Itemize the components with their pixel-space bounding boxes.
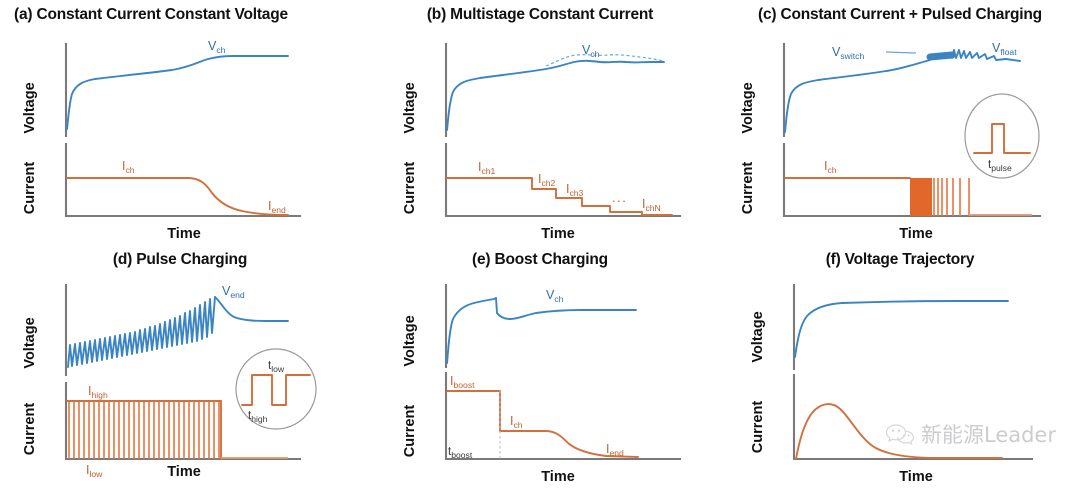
- panel-c-voltage-axis-label: Voltage: [740, 82, 756, 133]
- panel-c-time-axis-label: Time: [899, 226, 933, 242]
- panel-e-label-vch: Vch: [546, 288, 564, 304]
- panel-f-current-curve: [796, 404, 1002, 459]
- panel-e-voltage-axis-label: Voltage: [402, 315, 418, 366]
- panel-c-label-ich: Ich: [824, 159, 837, 175]
- panel-a-title: (a) Constant Current Constant Voltage: [14, 6, 360, 24]
- panel-c-pulse-block: [910, 178, 932, 216]
- panel-b-label-vch: Vch: [582, 43, 600, 59]
- panel-b-label-ichN: IchN: [642, 197, 661, 213]
- panel-a-plot: Voltage Current Vch Ich Iend Time: [0, 26, 360, 241]
- panel-c-label-vfloat: Vfloat: [992, 41, 1017, 57]
- panel-d-voltage-axis-label: Voltage: [22, 317, 38, 368]
- panel-f-current-axis-label: Current: [750, 401, 766, 454]
- panel-f-title: (f) Voltage Trajectory: [720, 251, 1080, 269]
- panel-d-label-ihigh: Ihigh: [88, 384, 108, 400]
- panel-a-label-iend: Iend: [268, 199, 286, 215]
- panel-f-time-axis-label: Time: [899, 469, 933, 485]
- panel-c-vswitch-leader-line: [886, 52, 916, 53]
- panel-b-plot: Voltage Current Vch Ich1 Ich2 Ich3: [360, 26, 720, 241]
- panel-f-voltage-curve: [795, 301, 1008, 357]
- panel-d-voltage-end-plateau: [215, 297, 288, 321]
- panel-b-label-ich1: Ich1: [478, 160, 496, 176]
- panel-b-label-ich2: Ich2: [538, 172, 556, 188]
- panel-c-voltage-dense-oscillation: [930, 55, 952, 57]
- panel-b-label-ellipsis: ...: [612, 190, 627, 205]
- panel-a-current-axes: [66, 144, 300, 216]
- panel-a-current-axis-label: Current: [22, 162, 38, 215]
- figure-grid: (a) Constant Current Constant Voltage Vo…: [0, 0, 1080, 491]
- panel-d-pulse-train: [69, 401, 219, 459]
- panel-c-plot: Voltage Current Vswitch Vfloat: [720, 26, 1080, 241]
- panel-e-current-axis-label: Current: [402, 405, 418, 458]
- panel-e-label-iend: Iend: [606, 442, 624, 458]
- panel-c-inset: tpulse: [965, 94, 1039, 178]
- panel-a-current-curve: [67, 178, 288, 215]
- panel-e-label-tboost: tboost: [448, 446, 473, 460]
- panel-a-label-vch: Vch: [208, 39, 226, 55]
- panel-e-voltage-curve: [447, 298, 636, 363]
- panel-f-current-axes: [794, 375, 1032, 459]
- panel-e-label-iboost: Iboost: [450, 374, 475, 390]
- panel-d-time-axis-label: Time: [167, 464, 201, 480]
- panel-d-title: (d) Pulse Charging: [0, 251, 360, 269]
- panel-e-label-ich: Ich: [510, 414, 523, 430]
- panel-b: (b) Multistage Constant Current Voltage …: [360, 0, 720, 245]
- panel-d-current-axis-label: Current: [22, 403, 38, 456]
- panel-b-label-ich3: Ich3: [566, 182, 584, 198]
- panel-d: (d) Pulse Charging Voltage Current Vend: [0, 245, 360, 491]
- panel-a-label-ich: Ich: [122, 159, 135, 175]
- panel-c-title: (c) Constant Current + Pulsed Charging: [720, 6, 1080, 24]
- panel-d-voltage-oscillation: [68, 297, 215, 367]
- panel-c-current-axis-label: Current: [740, 162, 756, 215]
- panel-e-current-axes: [446, 373, 680, 459]
- panel-c-voltage-curve: [785, 60, 930, 132]
- panel-b-current-axis-label: Current: [402, 162, 418, 215]
- panel-d-label-ilow: Ilow: [86, 463, 103, 479]
- panel-d-inset: tlow thigh: [236, 349, 316, 429]
- panel-a-time-axis-label: Time: [167, 226, 201, 242]
- panel-b-title: (b) Multistage Constant Current: [360, 6, 720, 24]
- panel-e-plot: Voltage Current Vch Iboost Ich Iend: [360, 271, 720, 486]
- panel-b-voltage-axis-label: Voltage: [402, 82, 418, 133]
- panel-f-voltage-axis-label: Voltage: [750, 311, 766, 362]
- panel-a: (a) Constant Current Constant Voltage Vo…: [0, 0, 360, 245]
- panel-b-time-axis-label: Time: [541, 226, 575, 242]
- panel-e-title: (e) Boost Charging: [360, 251, 720, 269]
- panel-f-plot: Voltage Current Time: [720, 271, 1080, 486]
- panel-a-voltage-curve: [67, 56, 288, 129]
- panel-a-voltage-axis-label: Voltage: [22, 82, 38, 133]
- panel-e-time-axis-label: Time: [541, 469, 575, 485]
- panel-b-voltage-curve: [447, 61, 664, 130]
- panel-c: (c) Constant Current + Pulsed Charging V…: [720, 0, 1080, 245]
- panel-e: (e) Boost Charging Voltage Current Vch I…: [360, 245, 720, 491]
- panel-f: (f) Voltage Trajectory Voltage Current T…: [720, 245, 1080, 491]
- panel-c-label-vswitch: Vswitch: [832, 45, 864, 61]
- panel-d-label-vend: Vend: [222, 284, 245, 300]
- panel-d-plot: Voltage Current Vend: [0, 271, 360, 486]
- panel-c-pulse-train: [934, 178, 969, 216]
- panel-b-current-staircase: [447, 178, 672, 215]
